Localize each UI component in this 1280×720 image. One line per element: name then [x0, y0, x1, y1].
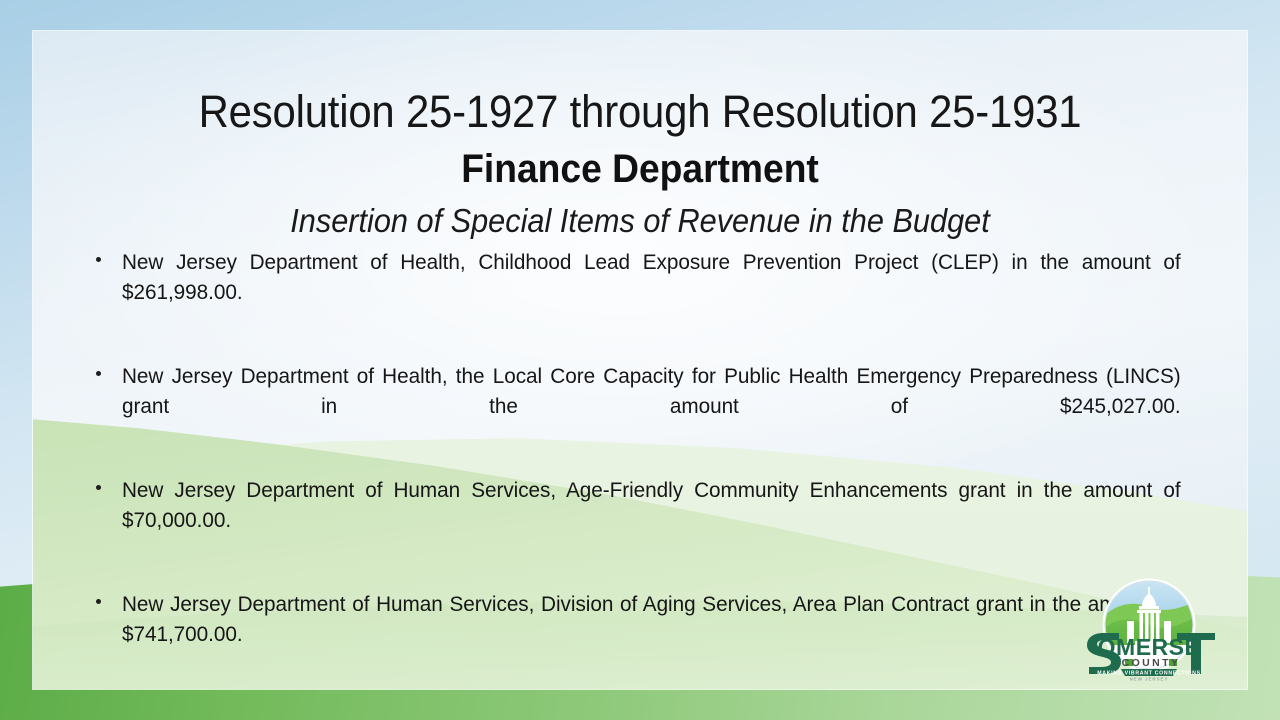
- bullet-point-icon: [96, 247, 122, 262]
- resolution-bullet-list: New Jersey Department of Health, Childho…: [96, 247, 1219, 689]
- slide-content-card: Resolution 25-1927 through Resolution 25…: [33, 31, 1247, 689]
- bullet-point-icon: [96, 589, 122, 604]
- slide-heading-block: Resolution 25-1927 through Resolution 25…: [33, 87, 1247, 240]
- bullet-point-icon: [96, 475, 122, 490]
- list-item: New Jersey Department of Human Services,…: [96, 589, 1219, 679]
- slide-title-resolutions: Resolution 25-1927 through Resolution 25…: [75, 87, 1204, 137]
- bullet-item-text: New Jersey Department of Health, Childho…: [122, 247, 1181, 337]
- bullet-item-text: New Jersey Department of Human Services,…: [122, 475, 1181, 565]
- list-item: New Jersey Department of Human Services,…: [96, 475, 1219, 565]
- svg-text:MAKING VIBRANT CONNECTIONS: MAKING VIBRANT CONNECTIONS: [1097, 670, 1201, 676]
- slide-title-department: Finance Department: [75, 147, 1204, 191]
- list-item: New Jersey Department of Health, the Loc…: [96, 361, 1219, 451]
- slide-subtitle-description: Insertion of Special Items of Revenue in…: [75, 203, 1204, 239]
- svg-text:NEW JERSEY: NEW JERSEY: [1130, 677, 1169, 682]
- svg-text:COUNTY: COUNTY: [1122, 657, 1181, 669]
- presentation-slide: Resolution 25-1927 through Resolution 25…: [0, 0, 1280, 720]
- bullet-item-text: New Jersey Department of Health, the Loc…: [122, 361, 1181, 451]
- somerset-county-logo-icon: OMERSE COUNTY MAKING VIBRANT CONNECTIONS…: [1065, 575, 1233, 683]
- list-item: New Jersey Department of Health, Childho…: [96, 247, 1219, 337]
- bullet-point-icon: [96, 361, 122, 376]
- bullet-item-text: New Jersey Department of Human Services,…: [122, 589, 1181, 679]
